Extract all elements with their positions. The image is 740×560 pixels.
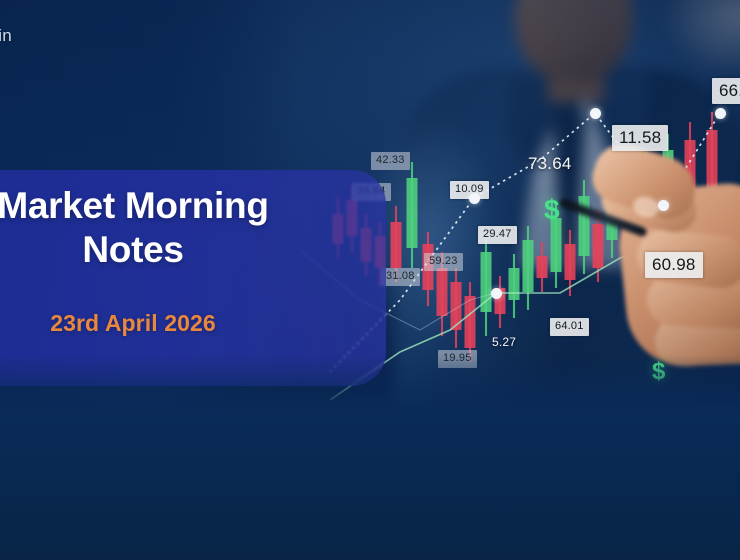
background-bottom-fade [0,355,740,560]
data-point-node [590,108,601,119]
price-tag: 73.64 [523,152,577,176]
price-tag: 31.08 [381,268,420,286]
candle-body [509,268,520,300]
data-point-node [715,108,726,119]
price-tag: 42.33 [371,152,410,170]
candle-body [523,240,534,292]
page-title: Market Morning Notes [0,184,386,271]
candle-body [391,222,402,268]
candle-body [481,252,492,312]
price-tag: 64.01 [550,318,589,336]
site-watermark: bo.in [0,26,12,46]
price-tag: 59.23 [424,253,463,271]
candle-body [437,268,448,316]
data-point-node [491,288,502,299]
page-title-line-2: Notes [82,229,183,270]
publication-date: 23rd April 2026 [0,310,386,337]
candle-body [537,256,548,278]
candle-body [465,296,476,348]
price-tag: 66.9 [712,78,740,104]
dollar-sign-icon: $ [544,196,560,224]
pointing-hand-icon [585,125,740,365]
headline-panel: Market Morning Notes 23rd April 2026 [0,170,386,386]
price-tag: 29.47 [478,226,517,244]
data-point-node [469,193,480,204]
banner-image: 66.911.5873.6410.0929.4760.9864.0119.955… [0,0,740,560]
candle-body [565,244,576,280]
price-tag: 5.27 [487,333,521,352]
price-tag: 11.58 [612,125,668,151]
price-tag: 60.98 [645,252,703,278]
headline-panel-inner: Market Morning Notes 23rd April 2026 [0,170,386,386]
candle-body [551,218,562,272]
data-point-node [658,200,669,211]
page-title-line-1: Market Morning [0,185,269,226]
candle-body [407,178,418,248]
